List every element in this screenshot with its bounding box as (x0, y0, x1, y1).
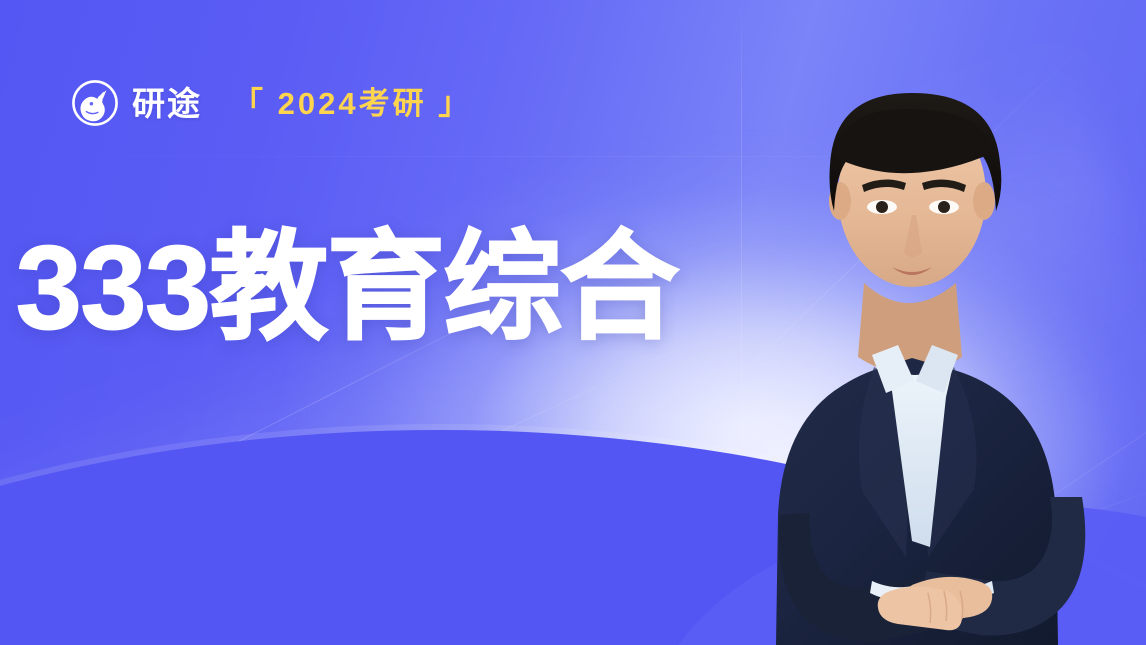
page-title: 333教育综合 (16, 222, 678, 354)
brand-header: 研途 「 2024考研 」 (72, 80, 472, 126)
tagline: 「 2024考研 」 (232, 88, 472, 119)
course-banner: 研途 「 2024考研 」 333教育综合 (0, 0, 1146, 645)
brand-name: 研途 (132, 87, 202, 120)
unicorn-logo-icon (72, 80, 118, 126)
presenter-photo (716, 45, 1146, 645)
